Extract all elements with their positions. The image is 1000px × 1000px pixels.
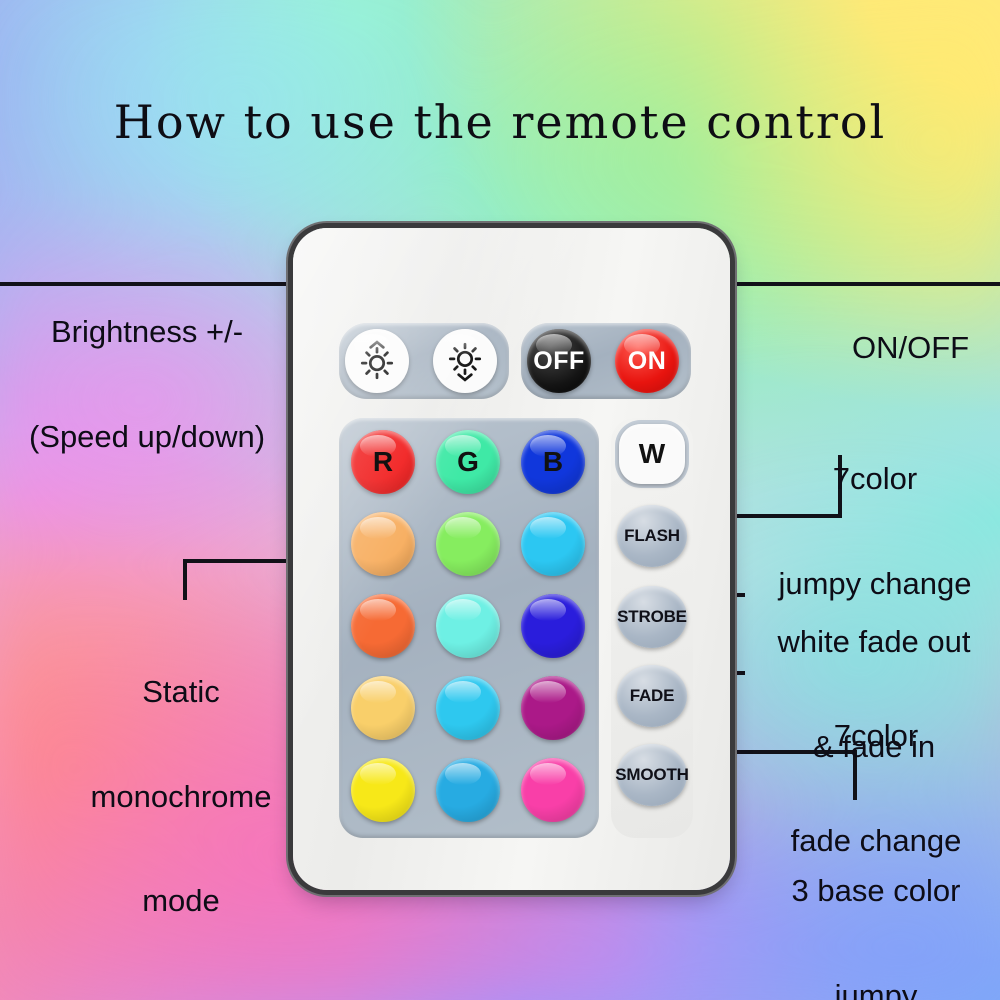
smooth-button[interactable]: SMOOTH (617, 744, 687, 806)
strobe-button[interactable]: STROBE (617, 586, 687, 648)
color-button-r1-c2[interactable]: G (436, 430, 500, 494)
power-pod: OFF ON (521, 323, 691, 399)
brightness-up-button[interactable] (345, 329, 409, 393)
poster-canvas: How to use the remote control Brightness… (0, 0, 1000, 1000)
fade-button[interactable]: FADE (617, 665, 687, 727)
callout-base-line1: 3 base color (756, 874, 996, 909)
sun-down-icon (444, 340, 486, 382)
callout-brightness: Brightness +/- (Speed up/down) (2, 246, 292, 524)
color-button-r5-c2[interactable] (436, 758, 500, 822)
flash-button-label: FLASH (624, 526, 680, 546)
color-button-r4-c3[interactable] (521, 676, 585, 740)
color-button-r2-c2[interactable] (436, 512, 500, 576)
color-button-r4-c2[interactable] (436, 676, 500, 740)
white-button-label: W (639, 438, 665, 470)
brightness-pod (339, 323, 509, 399)
page-title: How to use the remote control (0, 95, 1000, 149)
callout-jump-line1: 7color (760, 462, 990, 497)
remote-control-body: OFF ON W FLASH STROBE FADE SMOOTH RGB (293, 228, 730, 890)
color-button-r5-c1[interactable] (351, 758, 415, 822)
sun-up-icon (356, 340, 398, 382)
off-button-label: OFF (533, 347, 585, 376)
fade-button-label: FADE (630, 686, 675, 706)
color-button-r1-c3[interactable]: B (521, 430, 585, 494)
smooth-button-label: SMOOTH (615, 765, 688, 785)
callout-base-color: 3 base color jumpy (756, 805, 996, 1000)
on-button[interactable]: ON (615, 329, 679, 393)
strobe-button-label: STROBE (617, 607, 687, 627)
color-button-r2-c3[interactable] (521, 512, 585, 576)
callout-onoff-text: ON/OFF (852, 331, 969, 366)
white-button[interactable]: W (619, 424, 685, 484)
callout-static-line3: mode (56, 884, 306, 919)
color-button-r2-c1[interactable] (351, 512, 415, 576)
color-button-label: G (457, 446, 479, 478)
off-button[interactable]: OFF (527, 329, 591, 393)
callout-brightness-line2: (Speed up/down) (2, 420, 292, 455)
callout-brightness-line1: Brightness +/- (2, 315, 292, 350)
color-button-r4-c1[interactable] (351, 676, 415, 740)
color-button-r1-c1[interactable]: R (351, 430, 415, 494)
color-button-r3-c1[interactable] (351, 594, 415, 658)
color-button-r3-c2[interactable] (436, 594, 500, 658)
flash-button[interactable]: FLASH (617, 505, 687, 567)
on-button-label: ON (628, 347, 667, 376)
color-button-label: B (543, 446, 563, 478)
color-button-r3-c3[interactable] (521, 594, 585, 658)
callout-static-monochrome: Static monochrome mode (56, 606, 306, 988)
callout-base-line2: jumpy (756, 979, 996, 1000)
color-button-label: R (373, 446, 393, 478)
brightness-down-button[interactable] (433, 329, 497, 393)
callout-fade-line1: 7color (760, 719, 992, 754)
callout-static-line1: Static (56, 675, 306, 710)
color-button-r5-c3[interactable] (521, 758, 585, 822)
callout-static-line2: monochrome (56, 780, 306, 815)
